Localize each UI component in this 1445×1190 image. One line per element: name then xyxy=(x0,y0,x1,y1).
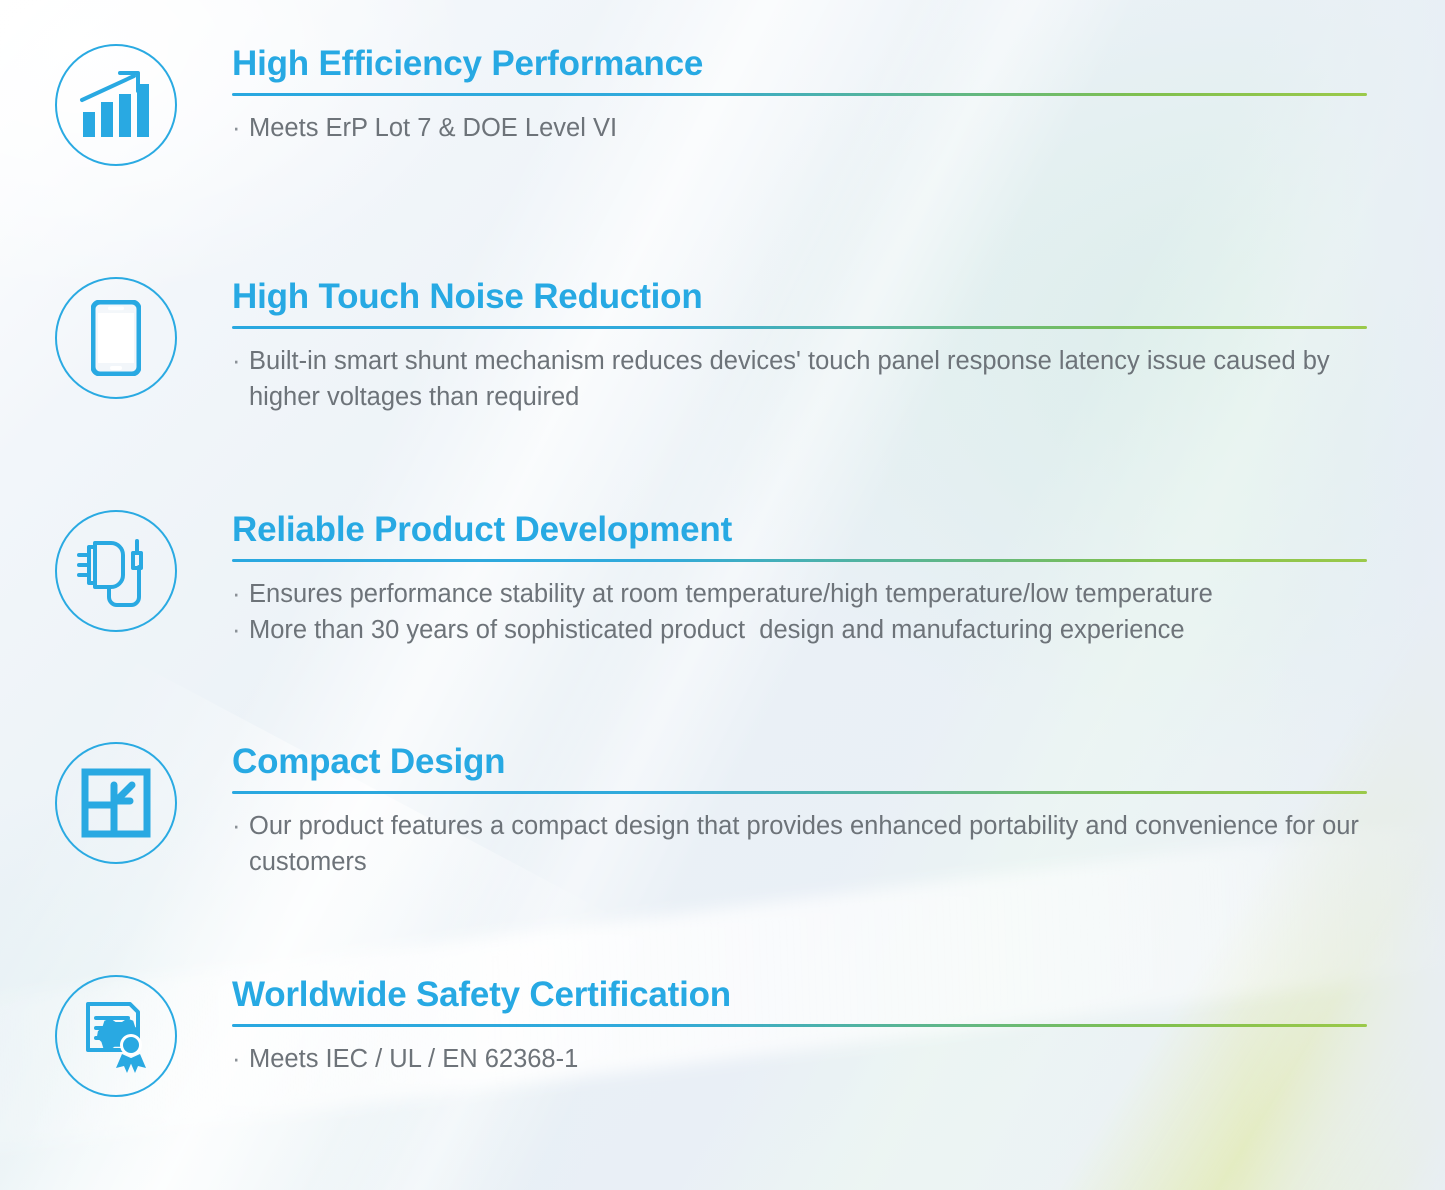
bullet-text: More than 30 years of sophisticated prod… xyxy=(249,612,1367,649)
feature-body: High Touch Noise Reduction · Built-in sm… xyxy=(232,277,1445,416)
feature-bullet-list: · Meets ErP Lot 7 & DOE Level VI xyxy=(232,110,1367,147)
feature-icon-container xyxy=(0,742,232,864)
feature-icon-container xyxy=(0,975,232,1097)
feature-bullet-list: · Ensures performance stability at room … xyxy=(232,576,1367,649)
smartphone-icon xyxy=(55,277,177,399)
feature-title: Worldwide Safety Certification xyxy=(232,977,1367,1014)
feature-title: Compact Design xyxy=(232,744,1367,781)
feature-item-high-touch-noise-reduction: High Touch Noise Reduction · Built-in sm… xyxy=(0,277,1445,416)
feature-title: High Efficiency Performance xyxy=(232,46,1367,83)
bullet-text: Ensures performance stability at room te… xyxy=(249,576,1367,613)
background-streak-lower-left xyxy=(0,656,619,1190)
feature-body: Compact Design · Our product features a … xyxy=(232,742,1445,881)
feature-item-compact-design: Compact Design · Our product features a … xyxy=(0,742,1445,881)
feature-title: Reliable Product Development xyxy=(232,512,1367,549)
feature-body: High Efficiency Performance · Meets ErP … xyxy=(232,44,1445,146)
feature-icon-container xyxy=(0,510,232,632)
feature-body: Worldwide Safety Certification · Meets I… xyxy=(232,975,1445,1077)
feature-highlights-page: High Efficiency Performance · Meets ErP … xyxy=(0,0,1445,1190)
feature-icon-container xyxy=(0,277,232,399)
bullet-text: Meets ErP Lot 7 & DOE Level VI xyxy=(249,110,1367,147)
feature-item-worldwide-safety-certification: Worldwide Safety Certification · Meets I… xyxy=(0,975,1445,1097)
feature-bullet-list: · Our product features a compact design … xyxy=(232,808,1367,881)
feature-bullet-list: · Meets IEC / UL / EN 62368-1 xyxy=(232,1041,1367,1078)
bullet-marker: · xyxy=(232,110,249,147)
bullet-text: Built-in smart shunt mechanism reduces d… xyxy=(249,343,1367,416)
bullet-marker: · xyxy=(232,1041,249,1078)
feature-divider xyxy=(232,559,1367,562)
certificate-award-icon xyxy=(55,975,177,1097)
bullet-text: Our product features a compact design th… xyxy=(249,808,1367,881)
feature-bullet: · Our product features a compact design … xyxy=(232,808,1367,881)
feature-divider xyxy=(232,1024,1367,1027)
bullet-marker: · xyxy=(232,576,249,613)
feature-item-high-efficiency-performance: High Efficiency Performance · Meets ErP … xyxy=(0,44,1445,166)
power-adapter-icon xyxy=(55,510,177,632)
feature-body: Reliable Product Development · Ensures p… xyxy=(232,510,1445,649)
feature-divider xyxy=(232,93,1367,96)
bullet-marker: · xyxy=(232,343,249,380)
bullet-marker: · xyxy=(232,612,249,649)
bullet-text: Meets IEC / UL / EN 62368-1 xyxy=(249,1041,1367,1078)
feature-icon-container xyxy=(0,44,232,166)
background-green-wedge-1 xyxy=(635,594,1445,1190)
feature-bullet: · Meets ErP Lot 7 & DOE Level VI xyxy=(232,110,1367,147)
feature-bullet-list: · Built-in smart shunt mechanism reduces… xyxy=(232,343,1367,416)
feature-bullet: · Ensures performance stability at room … xyxy=(232,576,1367,613)
feature-title: High Touch Noise Reduction xyxy=(232,279,1367,316)
feature-bullet: · More than 30 years of sophisticated pr… xyxy=(232,612,1367,649)
feature-bullet: · Built-in smart shunt mechanism reduces… xyxy=(232,343,1367,416)
bullet-marker: · xyxy=(232,808,249,845)
feature-bullet: · Meets IEC / UL / EN 62368-1 xyxy=(232,1041,1367,1078)
feature-item-reliable-product-development: Reliable Product Development · Ensures p… xyxy=(0,510,1445,649)
feature-divider xyxy=(232,791,1367,794)
bar-chart-growth-icon xyxy=(55,44,177,166)
feature-divider xyxy=(232,326,1367,329)
compact-resize-icon xyxy=(55,742,177,864)
